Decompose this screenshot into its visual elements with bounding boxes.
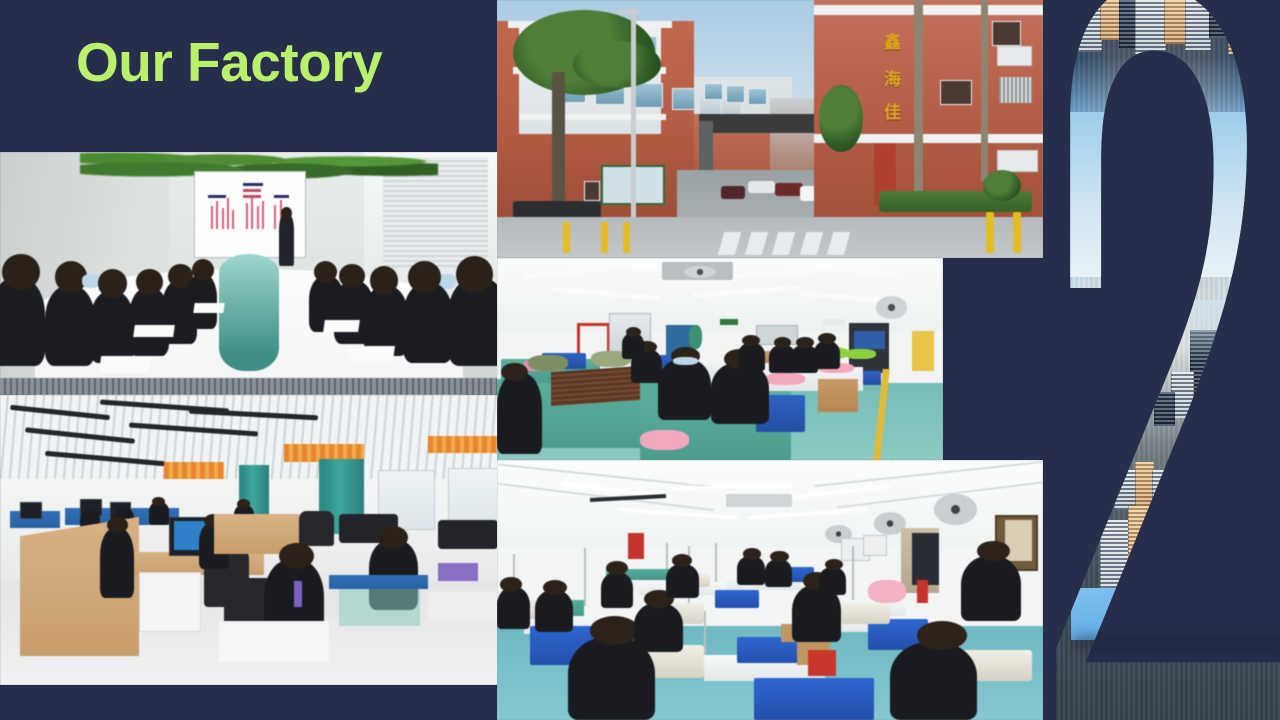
assembly-workshop-photo	[497, 258, 943, 460]
factory-entrance-photo: 鑫 海 佳	[497, 0, 1043, 258]
page-title: Our Factory	[76, 32, 382, 93]
open-office-photo	[0, 395, 498, 685]
numeral-two-shape	[1043, 0, 1280, 720]
slide-root: 鑫 海 佳	[0, 0, 1280, 720]
page-number-graphic	[1043, 0, 1280, 720]
sewing-workshop-photo	[497, 460, 1043, 720]
conference-room-photo	[0, 152, 498, 395]
